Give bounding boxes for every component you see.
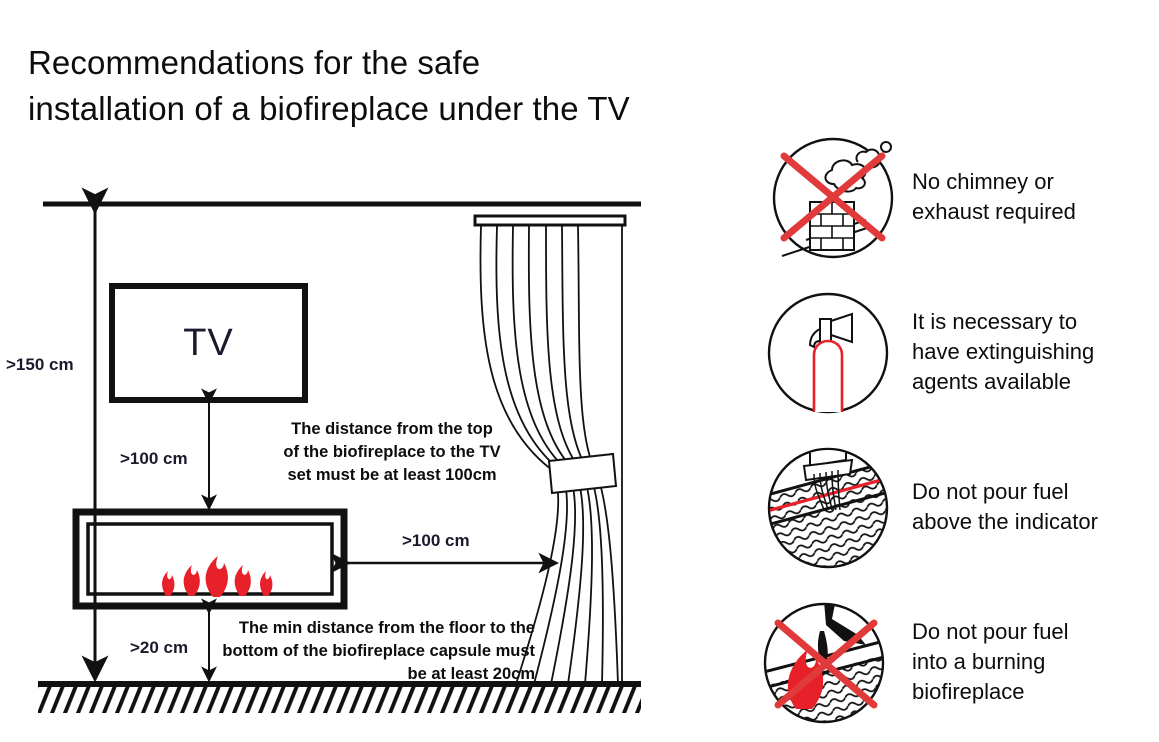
- note-floor-clearance: The min distance from the floor to the b…: [205, 617, 535, 686]
- extinguisher-body: [814, 341, 842, 412]
- pour-spout: [804, 442, 852, 480]
- note-tv-clearance: The distance from the top of the biofire…: [246, 418, 538, 487]
- recommendation-item: No chimney or exhaust required: [762, 120, 1159, 275]
- floor-hatching: [38, 687, 641, 713]
- no-chimney-icon: [762, 132, 894, 264]
- recommendation-item: Do not pour fuel into a burning biofirep…: [762, 585, 1159, 740]
- dimension-label-tv-to-fireplace: >100 cm: [120, 449, 188, 469]
- recommendation-text: Do not pour fuel above the indicator: [912, 477, 1098, 537]
- installation-diagram: TV >150 cm >100 cm >100 cm >20 cm The di…: [0, 0, 700, 742]
- recommendation-item: It is necessary to have extinguishing ag…: [762, 275, 1159, 430]
- curtain-tieback: [549, 454, 616, 493]
- recommendations-list: No chimney or exhaust required It is nec…: [762, 120, 1159, 740]
- dimension-label-floor-to-fireplace: >20 cm: [130, 638, 188, 658]
- recommendation-text: No chimney or exhaust required: [912, 167, 1076, 227]
- no-overfill-indicator-icon: [762, 442, 894, 574]
- dimension-label-ceiling-to-floor: >150 cm: [6, 355, 74, 375]
- dimension-label-fireplace-to-curtain: >100 cm: [402, 531, 470, 551]
- tv-screen-label: TV: [112, 286, 305, 400]
- recommendation-item: Do not pour fuel above the indicator: [762, 430, 1159, 585]
- curtain-rod: [475, 216, 625, 225]
- no-pour-burning-icon: [762, 597, 894, 729]
- recommendation-text: Do not pour fuel into a burning biofirep…: [912, 617, 1069, 707]
- recommendation-text: It is necessary to have extinguishing ag…: [912, 307, 1094, 397]
- fire-extinguisher-icon: [762, 287, 894, 419]
